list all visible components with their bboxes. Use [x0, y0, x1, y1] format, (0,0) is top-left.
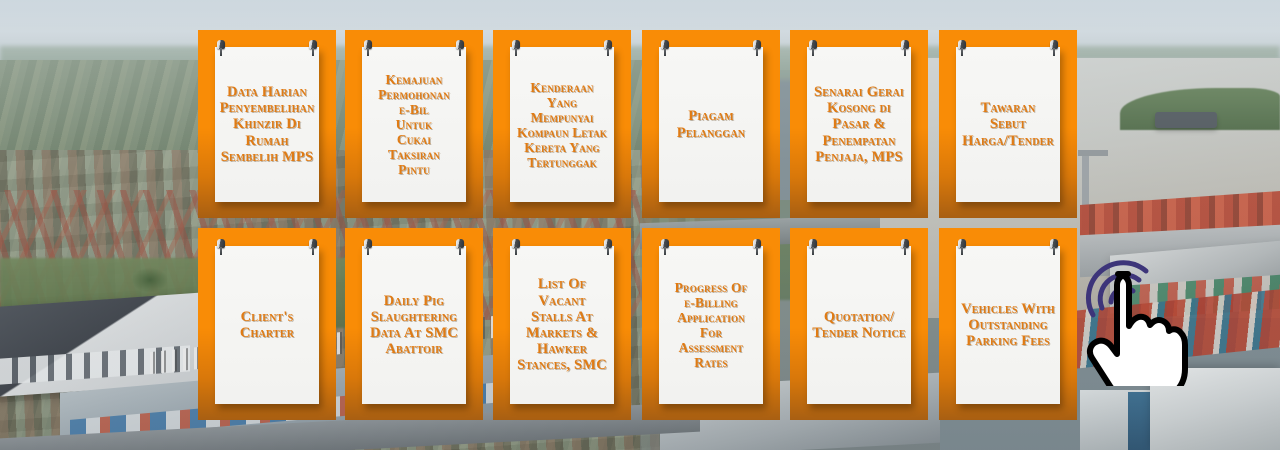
pushpin-needle — [904, 247, 906, 255]
pushpin-needle — [812, 48, 814, 56]
pushpin-icon — [958, 239, 966, 254]
tile-label: Tawaran Sebut Harga/Tender — [961, 100, 1055, 149]
tile-card[interactable]: Senarai Gerai Kosong di Pasar & Penempat… — [807, 47, 911, 202]
pushpin-icon — [512, 239, 520, 254]
quick-link-tile-data-harian-penyembelihan-khinzir[interactable]: Data Harian Penyembelihan Khinzir Di Rum… — [198, 30, 336, 218]
pushpin-icon — [661, 40, 669, 55]
pushpin-needle — [1053, 247, 1055, 255]
pushpin-needle — [664, 48, 666, 56]
quick-link-tile-kemajuan-permohonan-e-bil[interactable]: Kemajuan Permohonan e-Bil Untuk Cukai Ta… — [345, 30, 483, 218]
pushpin-icon — [309, 40, 317, 55]
pushpin-needle — [812, 247, 814, 255]
tile-card[interactable]: Progress Of e-Billing Application For As… — [659, 246, 763, 404]
pushpin-needle — [515, 247, 517, 255]
pushpin-needle — [756, 247, 758, 255]
tile-card[interactable]: Tawaran Sebut Harga/Tender — [956, 47, 1060, 202]
tile-label: List Of Vacant Stalls At Markets & Hawke… — [515, 276, 609, 373]
pushpin-icon — [512, 40, 520, 55]
tile-card[interactable]: Vehicles With Outstanding Parking Fees — [956, 246, 1060, 404]
pushpin-needle — [904, 48, 906, 56]
tile-card[interactable]: Kemajuan Permohonan e-Bil Untuk Cukai Ta… — [362, 47, 466, 202]
pushpin-icon — [753, 40, 761, 55]
pushpin-needle — [1053, 48, 1055, 56]
quick-link-tile-piagam-pelanggan[interactable]: Piagam Pelanggan — [642, 30, 780, 218]
tile-label: Progress Of e-Billing Application For As… — [675, 280, 748, 370]
pushpin-needle — [312, 247, 314, 255]
pushpin-icon — [901, 239, 909, 254]
quick-link-tile-quotation-tender-notice[interactable]: Quotation/ Tender Notice — [790, 228, 928, 420]
pushpin-icon — [364, 40, 372, 55]
quick-link-tile-senarai-gerai-kosong-pasar[interactable]: Senarai Gerai Kosong di Pasar & Penempat… — [790, 30, 928, 218]
tile-label: Kemajuan Permohonan e-Bil Untuk Cukai Ta… — [378, 72, 450, 177]
pushpin-icon — [901, 40, 909, 55]
quick-link-tile-tawaran-sebut-harga-tender[interactable]: Tawaran Sebut Harga/Tender — [939, 30, 1077, 218]
quick-link-tile-kenderaan-kompaun-letak-kereta[interactable]: Kenderaan Yang Mempunyai Kompaun Letak K… — [493, 30, 631, 218]
pushpin-icon — [456, 239, 464, 254]
quick-link-tile-clients-charter[interactable]: Client's Charter — [198, 228, 336, 420]
pushpin-needle — [756, 48, 758, 56]
tile-label: Daily Pig Slaughtering Data At SMC Abatt… — [370, 293, 458, 358]
pushpin-icon — [661, 239, 669, 254]
pushpin-needle — [961, 247, 963, 255]
tile-label: Client's Charter — [240, 309, 294, 341]
pushpin-icon — [1050, 239, 1058, 254]
pushpin-needle — [220, 247, 222, 255]
tile-label: Kenderaan Yang Mempunyai Kompaun Letak K… — [517, 80, 607, 170]
quick-link-tile-vehicles-with-outstanding-parking-fees[interactable]: Vehicles With Outstanding Parking Fees — [939, 228, 1077, 420]
pushpin-needle — [607, 48, 609, 56]
pushpin-icon — [604, 239, 612, 254]
pushpin-icon — [217, 239, 225, 254]
pushpin-needle — [220, 48, 222, 56]
tile-label: Quotation/ Tender Notice — [812, 309, 906, 341]
pushpin-icon — [753, 239, 761, 254]
pushpin-icon — [809, 40, 817, 55]
tile-card[interactable]: List Of Vacant Stalls At Markets & Hawke… — [510, 246, 614, 404]
tile-card[interactable]: Quotation/ Tender Notice — [807, 246, 911, 404]
quick-link-tile-list-of-vacant-stalls[interactable]: List Of Vacant Stalls At Markets & Hawke… — [493, 228, 631, 420]
tile-card[interactable]: Client's Charter — [215, 246, 319, 404]
pushpin-icon — [456, 40, 464, 55]
pushpin-icon — [364, 239, 372, 254]
pushpin-needle — [459, 247, 461, 255]
pushpin-icon — [958, 40, 966, 55]
pushpin-icon — [809, 239, 817, 254]
pushpin-needle — [961, 48, 963, 56]
pushpin-icon — [604, 40, 612, 55]
pushpin-needle — [312, 48, 314, 56]
tile-card[interactable]: Kenderaan Yang Mempunyai Kompaun Letak K… — [510, 47, 614, 202]
tile-card[interactable]: Piagam Pelanggan — [659, 47, 763, 202]
tile-label: Piagam Pelanggan — [677, 108, 745, 140]
pushpin-icon — [217, 40, 225, 55]
pushpin-needle — [515, 48, 517, 56]
pushpin-needle — [664, 247, 666, 255]
quick-link-tile-progress-of-e-billing-application[interactable]: Progress Of e-Billing Application For As… — [642, 228, 780, 420]
pushpin-needle — [459, 48, 461, 56]
tile-label: Vehicles With Outstanding Parking Fees — [961, 301, 1055, 350]
pushpin-needle — [367, 48, 369, 56]
tile-card[interactable]: Daily Pig Slaughtering Data At SMC Abatt… — [362, 246, 466, 404]
pushpin-icon — [1050, 40, 1058, 55]
pushpin-icon — [309, 239, 317, 254]
pushpin-needle — [607, 247, 609, 255]
pushpin-needle — [367, 247, 369, 255]
quick-link-grid: Data Harian Penyembelihan Khinzir Di Rum… — [0, 0, 1280, 450]
quick-link-tile-daily-pig-slaughtering-data[interactable]: Daily Pig Slaughtering Data At SMC Abatt… — [345, 228, 483, 420]
tile-card[interactable]: Data Harian Penyembelihan Khinzir Di Rum… — [215, 47, 319, 202]
tile-label: Senarai Gerai Kosong di Pasar & Penempat… — [814, 84, 904, 165]
tile-label: Data Harian Penyembelihan Khinzir Di Rum… — [220, 84, 315, 165]
